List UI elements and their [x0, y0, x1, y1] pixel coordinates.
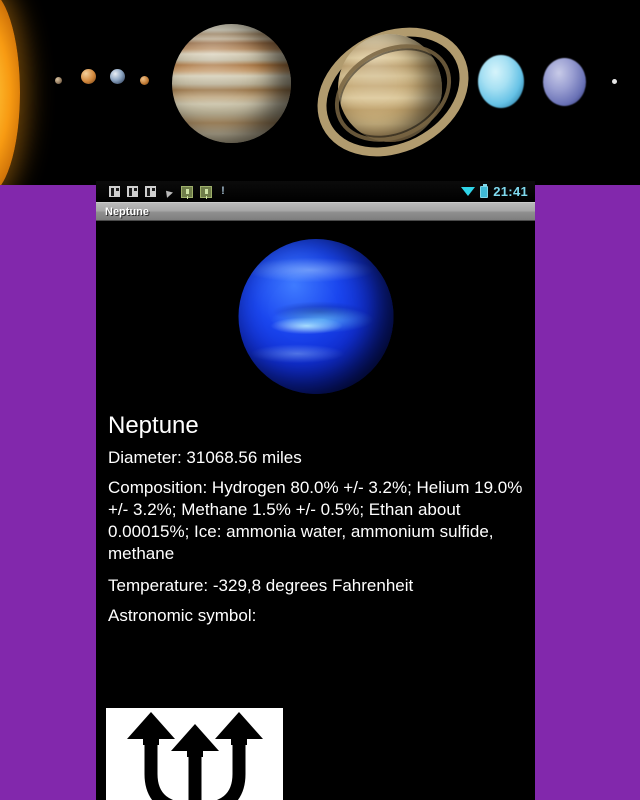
neptune-planet-photo [238, 239, 393, 394]
app-content: Neptune Diameter: 31068.56 miles Composi… [96, 221, 535, 800]
warning-notification-icon[interactable]: ! [219, 186, 227, 198]
neptune-icon [543, 58, 586, 106]
screenshot-notification-icon[interactable] [127, 186, 138, 197]
status-bar-notifications[interactable]: ! [96, 186, 227, 198]
right-arrowhead [215, 712, 263, 745]
download-notification-icon[interactable] [200, 186, 212, 198]
mercury-icon [55, 77, 62, 84]
symbol-label: Astronomic symbol: [108, 605, 527, 627]
trident-glyph [119, 712, 271, 800]
earth-icon [110, 69, 125, 84]
diameter-text: Diameter: 31068.56 miles [108, 447, 527, 469]
app-title-bar: Neptune [96, 202, 535, 221]
planet-info: Neptune Diameter: 31068.56 miles Composi… [108, 411, 527, 635]
left-arrowhead [127, 712, 175, 745]
pluto-icon [612, 79, 617, 84]
status-bar-system[interactable]: 21:41 [461, 181, 528, 202]
mars-icon [140, 76, 149, 85]
screen-root: ! 21:41 Neptune Neptune Diameter: 31068.… [0, 0, 640, 800]
status-bar[interactable]: ! 21:41 [96, 181, 535, 202]
wifi-icon [461, 186, 475, 197]
battery-icon [480, 186, 488, 198]
page-title: Neptune [108, 411, 527, 441]
venus-icon [81, 69, 96, 84]
composition-text: Composition: Hydrogen 80.0% +/- 3.2%; He… [108, 477, 527, 565]
saturn-icon [310, 8, 476, 176]
app-title: Neptune [96, 206, 149, 218]
sun-icon [0, 0, 20, 185]
screenshot-notification-icon[interactable] [109, 186, 120, 197]
download-notification-icon[interactable] [181, 186, 193, 198]
center-arrowhead [171, 724, 219, 757]
solar-system-photo [0, 0, 640, 185]
screenshot-notification-icon[interactable] [145, 186, 156, 197]
jupiter-icon [172, 24, 291, 143]
app-window: ! 21:41 Neptune Neptune Diameter: 31068.… [96, 181, 535, 800]
arrow-notification-icon[interactable] [163, 187, 174, 197]
temperature-text: Temperature: -329,8 degrees Fahrenheit [108, 575, 527, 597]
status-bar-clock: 21:41 [493, 184, 528, 199]
uranus-icon [478, 55, 524, 108]
neptune-trident-symbol [106, 708, 283, 800]
